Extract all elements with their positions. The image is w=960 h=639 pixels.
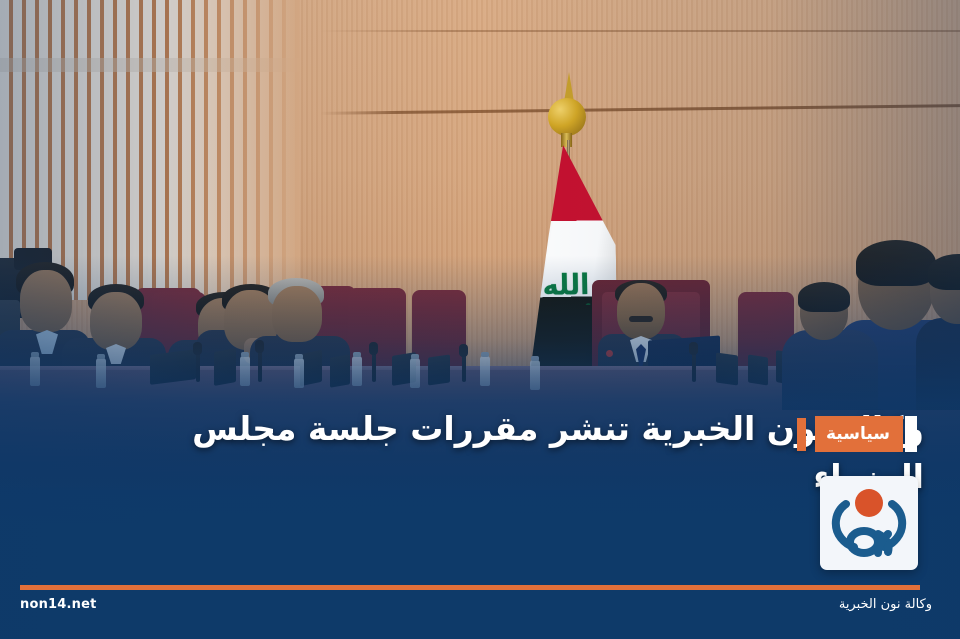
headline: وكالة نون الخبرية تنشر مقررات جلسة مجلس … xyxy=(164,405,924,500)
category-badge[interactable]: سياسية xyxy=(815,416,903,452)
noon-logo-icon xyxy=(820,476,918,570)
category-badge-cap xyxy=(905,416,917,452)
news-graphic-card: الله أكبر xyxy=(0,0,960,639)
footer-divider xyxy=(20,585,920,590)
headline-accent-bar xyxy=(797,418,806,451)
agency-logo[interactable] xyxy=(820,476,918,570)
agency-name: وكالة نون الخبرية xyxy=(839,597,932,612)
navy-side-vignette xyxy=(0,0,960,639)
site-url[interactable]: non14.net xyxy=(20,597,97,612)
